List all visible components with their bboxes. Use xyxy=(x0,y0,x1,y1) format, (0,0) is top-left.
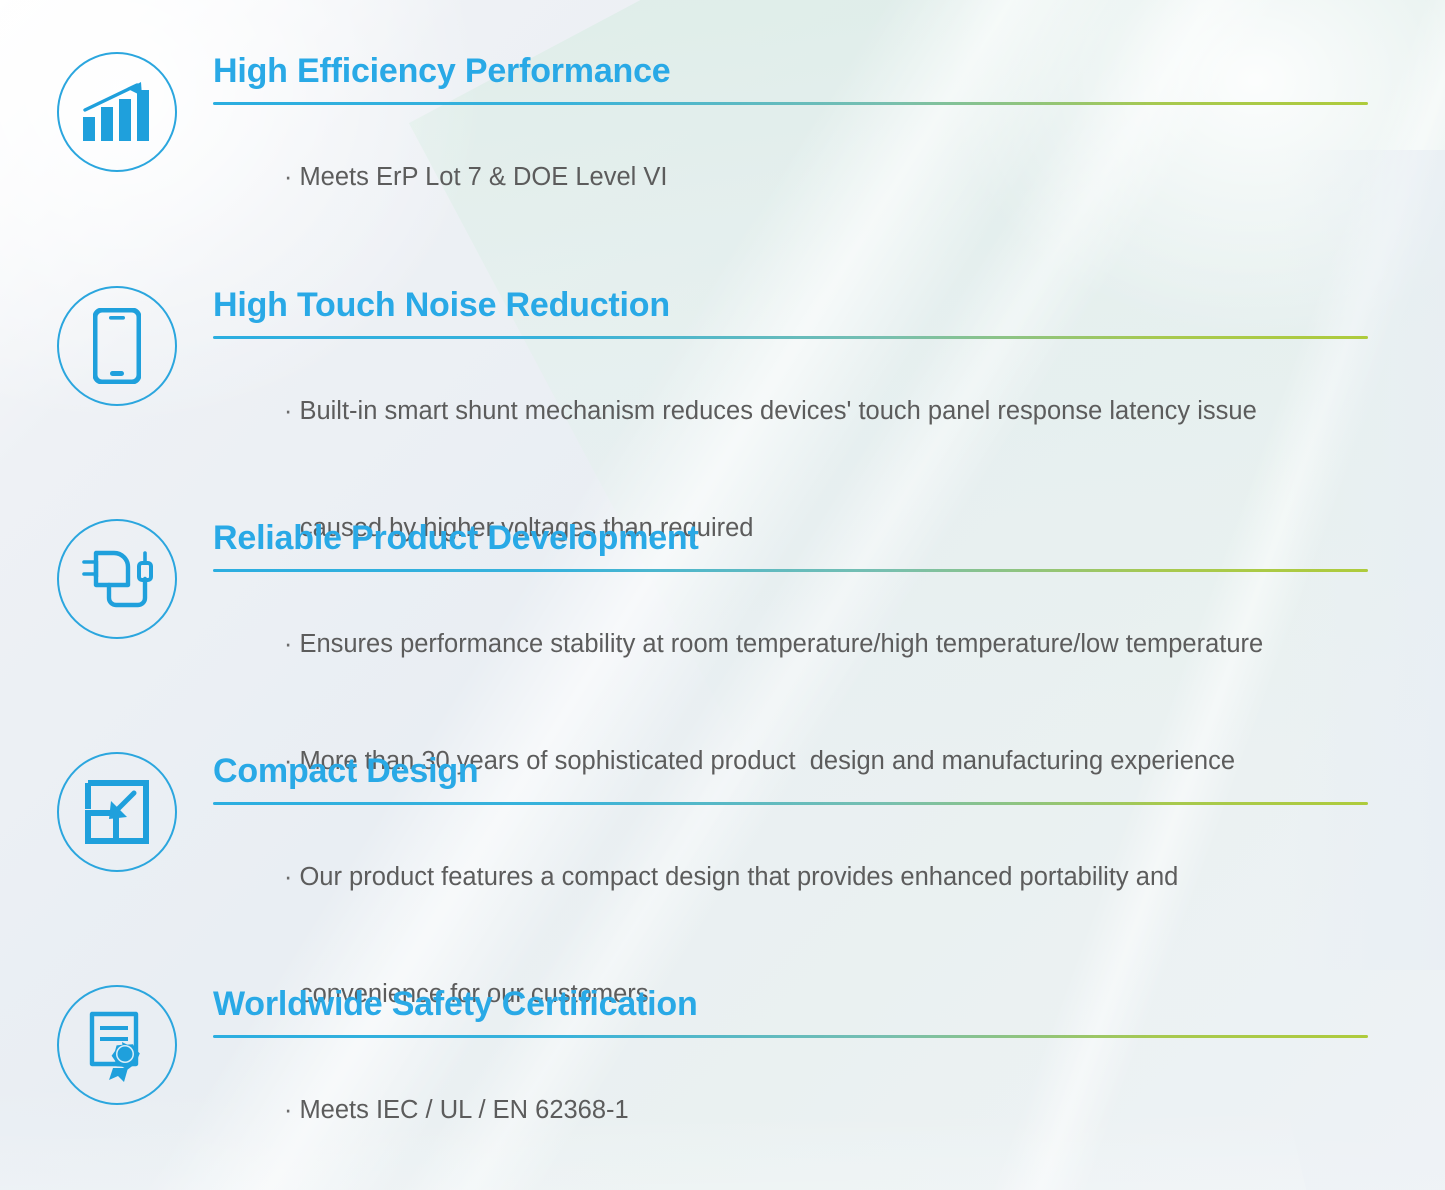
feature-icon-badge xyxy=(57,286,177,406)
feature-icon-badge xyxy=(57,52,177,172)
feature-divider xyxy=(213,569,1368,572)
feature-title: Worldwide Safety Certification xyxy=(213,987,1445,1021)
feature-bullet-line: · Ensures performance stability at room … xyxy=(213,586,1445,703)
smartphone-icon xyxy=(93,308,141,384)
feature-text-block: Worldwide Safety Certification · Meets I… xyxy=(213,985,1445,1169)
feature-divider xyxy=(213,102,1368,105)
bar-chart-growth-icon xyxy=(79,77,155,147)
feature-title: High Touch Noise Reduction xyxy=(213,288,1445,322)
bullet-text: Ensures performance stability at room te… xyxy=(299,630,1263,658)
feature-title: Compact Design xyxy=(213,754,1445,788)
bullet-text: Meets ErP Lot 7 & DOE Level VI xyxy=(299,163,667,191)
feature-description: · Meets ErP Lot 7 & DOE Level VI xyxy=(213,119,1445,236)
power-adapter-icon xyxy=(76,543,158,615)
compact-resize-icon xyxy=(82,777,152,847)
feature-bullet-line: · Our product features a compact design … xyxy=(213,819,1445,936)
feature-text-block: High Efficiency Performance · Meets ErP … xyxy=(213,52,1445,236)
feature-divider xyxy=(213,802,1368,805)
certificate-seal-icon xyxy=(80,1008,154,1082)
feature-bullet-line: · Meets ErP Lot 7 & DOE Level VI xyxy=(213,119,1445,236)
bullet-marker: · xyxy=(284,863,300,891)
feature-description: · Meets IEC / UL / EN 62368-1 xyxy=(213,1052,1445,1169)
bullet-marker: · xyxy=(284,1096,300,1124)
feature-bullet-line: · Meets IEC / UL / EN 62368-1 xyxy=(213,1052,1445,1169)
bullet-marker: · xyxy=(284,630,300,658)
bullet-text: Meets IEC / UL / EN 62368-1 xyxy=(299,1096,628,1124)
feature-icon-badge xyxy=(57,752,177,872)
feature-item-high-efficiency-performance: High Efficiency Performance · Meets ErP … xyxy=(0,52,1445,236)
feature-title: High Efficiency Performance xyxy=(213,54,1445,88)
feature-icon-badge xyxy=(57,985,177,1105)
feature-divider xyxy=(213,1035,1368,1038)
bullet-marker: · xyxy=(284,397,300,425)
feature-bullet-line: · Built-in smart shunt mechanism reduces… xyxy=(213,353,1445,470)
feature-item-worldwide-safety-certification: Worldwide Safety Certification · Meets I… xyxy=(0,985,1445,1169)
bullet-text: Our product features a compact design th… xyxy=(299,863,1178,891)
feature-title: Reliable Product Development xyxy=(213,521,1445,555)
bullet-marker: · xyxy=(284,163,300,191)
feature-icon-badge xyxy=(57,519,177,639)
bullet-text: Built-in smart shunt mechanism reduces d… xyxy=(299,397,1256,425)
feature-divider xyxy=(213,336,1368,339)
